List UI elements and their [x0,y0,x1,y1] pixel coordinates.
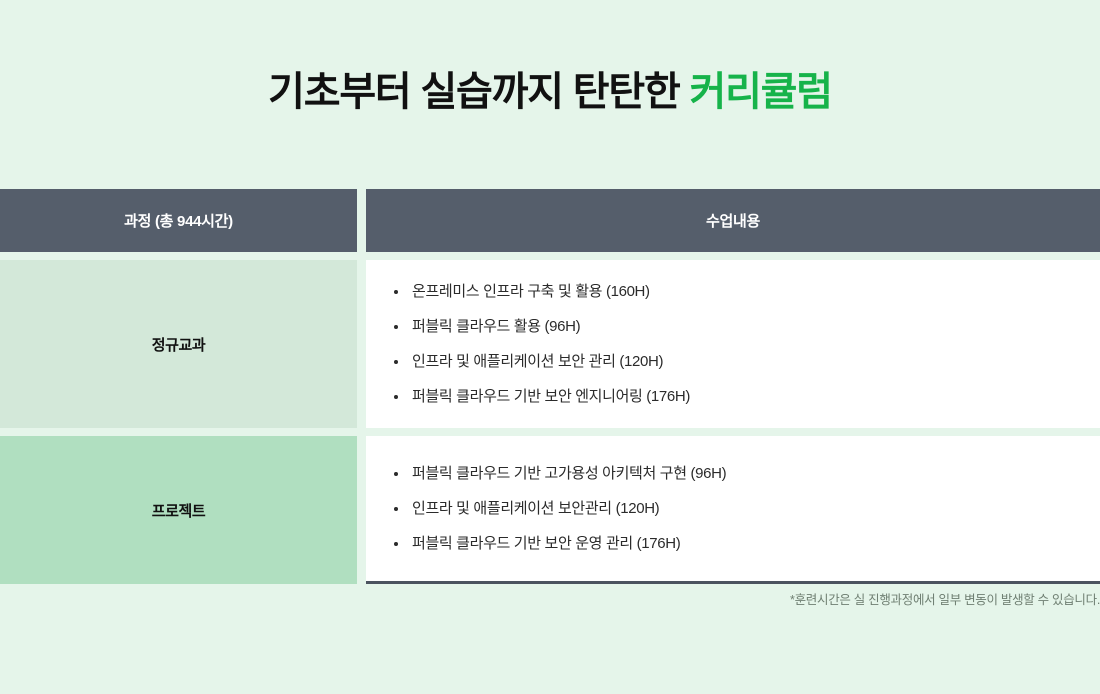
row-content-cell-regular: 온프레미스 인프라 구축 및 활용 (160H) 퍼블릭 클라우드 활용 (96… [366,260,1100,428]
row-label-cell-project: 프로젝트 [0,436,357,584]
page-title-accent: 커리큘럼 [689,70,831,114]
header-label-content: 수업내용 [366,210,1100,231]
footnote: *훈련시간은 실 진행과정에서 일부 변동이 발생할 수 있습니다. [790,589,1100,608]
list-item: 인프라 및 애플리케이션 보안 관리 (120H) [394,354,1100,369]
list-item: 퍼블릭 클라우드 활용 (96H) [394,319,1100,334]
table-header-row: 과정 (총 944시간) 수업내용 [0,189,1100,252]
row-label-project: 프로젝트 [152,500,206,521]
list-item: 퍼블릭 클라우드 기반 고가용성 아키텍처 구현 (96H) [394,466,1100,481]
header-cell-course: 과정 (총 944시간) [0,189,357,252]
row-content-cell-project: 퍼블릭 클라우드 기반 고가용성 아키텍처 구현 (96H) 인프라 및 애플리… [366,436,1100,584]
header-cell-content: 수업내용 [366,189,1100,252]
bullet-list-project: 퍼블릭 클라우드 기반 고가용성 아키텍처 구현 (96H) 인프라 및 애플리… [394,466,1100,551]
list-item: 인프라 및 애플리케이션 보안관리 (120H) [394,501,1100,516]
header-label-course: 과정 (총 944시간) [0,210,357,231]
list-item: 온프레미스 인프라 구축 및 활용 (160H) [394,284,1100,299]
bullet-list-regular: 온프레미스 인프라 구축 및 활용 (160H) 퍼블릭 클라우드 활용 (96… [394,284,1100,404]
curriculum-table: 과정 (총 944시간) 수업내용 정규교과 온프레미스 인프라 구축 및 활용… [0,189,1100,584]
page-title-section: 기초부터 실습까지 탄탄한 커리큘럼 [0,0,1100,189]
page-title-plain: 기초부터 실습까지 탄탄한 [268,70,689,114]
table-row: 프로젝트 퍼블릭 클라우드 기반 고가용성 아키텍처 구현 (96H) 인프라 … [0,436,1100,584]
row-label-regular: 정규교과 [152,334,206,355]
row-label-cell-regular: 정규교과 [0,260,357,428]
page-title: 기초부터 실습까지 탄탄한 커리큘럼 [268,72,832,118]
list-item: 퍼블릭 클라우드 기반 보안 운영 관리 (176H) [394,536,1100,551]
table-row: 정규교과 온프레미스 인프라 구축 및 활용 (160H) 퍼블릭 클라우드 활… [0,260,1100,428]
list-item: 퍼블릭 클라우드 기반 보안 엔지니어링 (176H) [394,389,1100,404]
